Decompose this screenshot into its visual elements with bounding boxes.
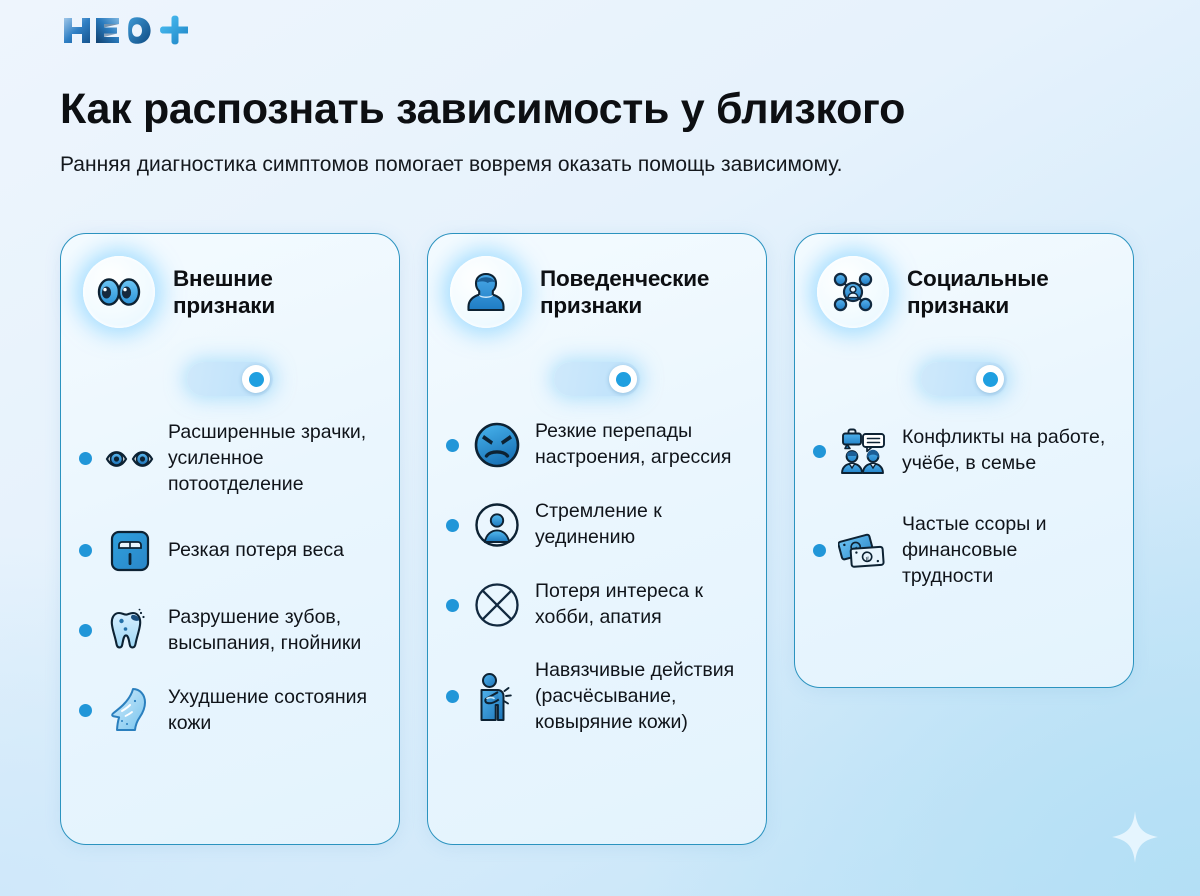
list-item-label: Расширенные зрачки, усиленное потоотделе… xyxy=(168,420,379,498)
list-item: Резкие перепады настроения, агрессия xyxy=(446,418,746,472)
list-item: Навязчивые действия (расчёсывание, ковыр… xyxy=(446,658,746,736)
angry-face-icon xyxy=(470,418,524,472)
card-social-signs: Социальныепризнаки Конфликты на работе, … xyxy=(794,233,1134,688)
card-header: Поведенческиепризнаки xyxy=(428,234,766,328)
page-subtitle: Ранняя диагностика симптомов помогает во… xyxy=(60,149,960,182)
conflict-people-icon xyxy=(837,424,891,478)
list-item: Расширенные зрачки, усиленное потоотделе… xyxy=(79,420,379,498)
card-title: Социальныепризнаки xyxy=(907,265,1049,320)
toggle-knob xyxy=(976,365,1004,393)
list-item-label: Резкая потеря веса xyxy=(168,538,344,564)
bullet-dot xyxy=(79,704,92,717)
list-item-label: Потеря интереса к хобби, апатия xyxy=(535,579,746,631)
card-header: Внешниепризнаки xyxy=(61,234,399,328)
list-item: Ухудшение состояния кожи xyxy=(79,684,379,738)
card-title: Поведенческиепризнаки xyxy=(540,265,709,320)
signs-list: Расширенные зрачки, усиленное потоотделе… xyxy=(61,396,399,738)
bullet-dot xyxy=(79,544,92,557)
no-interest-icon xyxy=(470,578,524,632)
person-icon xyxy=(450,256,522,328)
list-item: Стремление к уединению xyxy=(446,498,746,552)
list-item: Потеря интереса к хобби, апатия xyxy=(446,578,746,632)
four-point-sparkle-icon xyxy=(1112,811,1158,868)
card-toggle-switch[interactable] xyxy=(921,362,1007,396)
signs-list: Конфликты на работе, учёбе, в семье g g … xyxy=(795,396,1133,590)
page-title: Как распознать зависимость у близкого xyxy=(60,85,1160,133)
card-toggle-switch[interactable] xyxy=(554,362,640,396)
card-title: Внешниепризнаки xyxy=(173,265,275,320)
user-circle-icon xyxy=(470,498,524,552)
weight-scale-icon xyxy=(103,524,157,578)
list-item: Разрушение зубов, высыпания, гнойники xyxy=(79,604,379,658)
bullet-dot xyxy=(446,599,459,612)
list-item: Конфликты на работе, учёбе, в семье xyxy=(813,424,1113,478)
list-item: g g Частые ссоры и финансовые трудности xyxy=(813,512,1113,590)
toggle-row xyxy=(61,362,399,396)
toggle-row xyxy=(795,362,1133,396)
card-external-signs: Внешниепризнаки Расширенные зрачки, усил… xyxy=(60,233,400,845)
bullet-dot xyxy=(446,519,459,532)
list-item-label: Стремление к уединению xyxy=(535,499,746,551)
infographic-page: Как распознать зависимость у близкого Ра… xyxy=(0,0,1200,896)
bullet-dot xyxy=(446,690,459,703)
cards-row: Внешниепризнаки Расширенные зрачки, усил… xyxy=(60,233,1140,845)
list-item-label: Резкие перепады настроения, агрессия xyxy=(535,419,746,471)
list-item-label: Частые ссоры и финансовые трудности xyxy=(902,512,1113,590)
list-item-label: Ухудшение состояния кожи xyxy=(168,685,379,737)
bullet-dot xyxy=(79,452,92,465)
toggle-knob xyxy=(609,365,637,393)
network-icon xyxy=(817,256,889,328)
decayed-tooth-icon xyxy=(103,604,157,658)
list-item: Резкая потеря веса xyxy=(79,524,379,578)
bullet-dot xyxy=(813,445,826,458)
signs-list: Резкие перепады настроения, агрессия Стр… xyxy=(428,396,766,736)
toggle-knob xyxy=(242,365,270,393)
card-header: Социальныепризнаки xyxy=(795,234,1133,328)
list-item-label: Конфликты на работе, учёбе, в семье xyxy=(902,425,1113,477)
eyes-icon xyxy=(83,256,155,328)
brand-logo xyxy=(62,14,188,48)
card-toggle-switch[interactable] xyxy=(187,362,273,396)
bullet-dot xyxy=(813,544,826,557)
bullet-dot xyxy=(446,439,459,452)
bullet-dot xyxy=(79,624,92,637)
card-behavioral-signs: Поведенческиепризнаки Резкие перепады на… xyxy=(427,233,767,845)
dilated-pupils-icon xyxy=(103,432,157,486)
list-item-label: Разрушение зубов, высыпания, гнойники xyxy=(168,605,379,657)
scratching-person-icon xyxy=(470,670,524,724)
toggle-row xyxy=(428,362,766,396)
list-item-label: Навязчивые действия (расчёсывание, ковыр… xyxy=(535,658,746,736)
face-skin-icon xyxy=(103,684,157,738)
money-banknotes-icon: g g xyxy=(837,524,891,578)
